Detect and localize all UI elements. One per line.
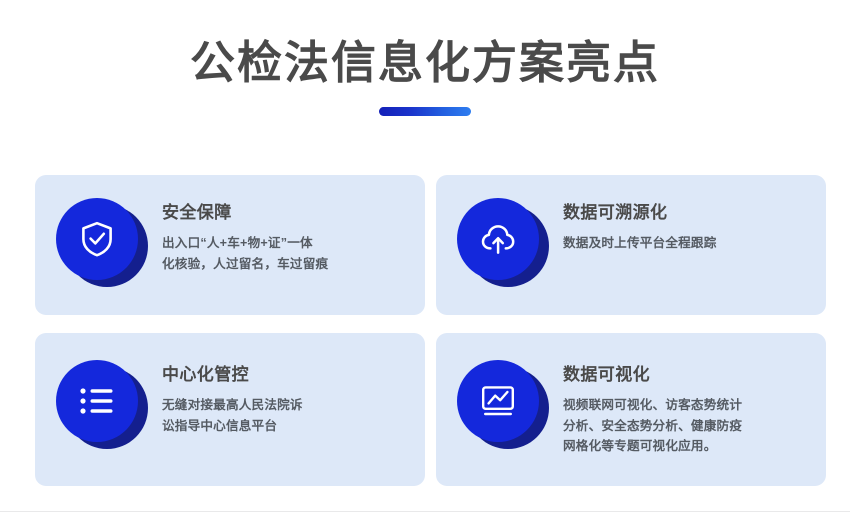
icon-badge — [56, 360, 144, 448]
highlights-page: 公检法信息化方案亮点 安全保障 出入口“人+车+物+证”一体 化核验， — [0, 0, 850, 516]
shield-check-icon — [79, 220, 115, 258]
feature-card-centralized-control[interactable]: 中心化管控 无缝对接最高人民法院诉 讼指导中心信息平台 — [35, 333, 425, 486]
feature-card-security[interactable]: 安全保障 出入口“人+车+物+证”一体 化核验，人过留名，车过留痕 — [35, 175, 425, 315]
chart-monitor-icon — [479, 384, 517, 418]
icon-circle — [457, 360, 539, 442]
cloud-upload-icon — [478, 221, 518, 257]
feature-card-data-visualization[interactable]: 数据可视化 视频联网可视化、访客态势统计 分析、安全态势分析、健康防疫 网格化等… — [436, 333, 826, 486]
card-description: 数据及时上传平台全程跟踪 — [563, 233, 717, 253]
feature-card-grid: 安全保障 出入口“人+车+物+证”一体 化核验，人过留名，车过留痕 — [35, 175, 815, 486]
icon-circle — [56, 198, 138, 280]
card-title: 数据可溯源化 — [563, 203, 717, 223]
icon-circle — [56, 360, 138, 442]
card-text: 数据可溯源化 数据及时上传平台全程跟踪 — [563, 198, 717, 254]
bottom-divider — [0, 511, 850, 512]
title-underline-accent — [379, 107, 471, 116]
card-title: 中心化管控 — [162, 365, 303, 385]
card-description: 视频联网可视化、访客态势统计 分析、安全态势分析、健康防疫 网格化等专题可视化应… — [563, 395, 742, 456]
card-description: 无缝对接最高人民法院诉 讼指导中心信息平台 — [162, 395, 303, 436]
feature-card-data-traceability[interactable]: 数据可溯源化 数据及时上传平台全程跟踪 — [436, 175, 826, 315]
card-title: 数据可视化 — [563, 365, 742, 385]
icon-badge — [457, 198, 545, 286]
card-text: 中心化管控 无缝对接最高人民法院诉 讼指导中心信息平台 — [162, 360, 303, 436]
card-text: 安全保障 出入口“人+车+物+证”一体 化核验，人过留名，车过留痕 — [162, 198, 328, 274]
bulleted-list-icon — [78, 386, 116, 416]
card-text: 数据可视化 视频联网可视化、访客态势统计 分析、安全态势分析、健康防疫 网格化等… — [563, 360, 742, 457]
page-title: 公检法信息化方案亮点 — [0, 38, 850, 88]
card-description: 出入口“人+车+物+证”一体 化核验，人过留名，车过留痕 — [162, 233, 328, 274]
card-title: 安全保障 — [162, 203, 328, 223]
icon-badge — [56, 198, 144, 286]
page-header: 公检法信息化方案亮点 — [0, 0, 850, 116]
icon-circle — [457, 198, 539, 280]
icon-badge — [457, 360, 545, 448]
